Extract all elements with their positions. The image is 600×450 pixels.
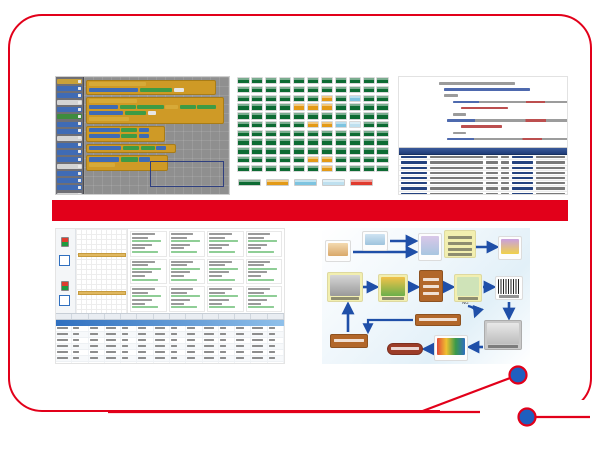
slide-root: NG — [0, 0, 600, 450]
blue-dot-lower — [519, 409, 536, 426]
blue-dot-upper — [510, 367, 527, 384]
blue-dot-connector — [0, 0, 600, 450]
